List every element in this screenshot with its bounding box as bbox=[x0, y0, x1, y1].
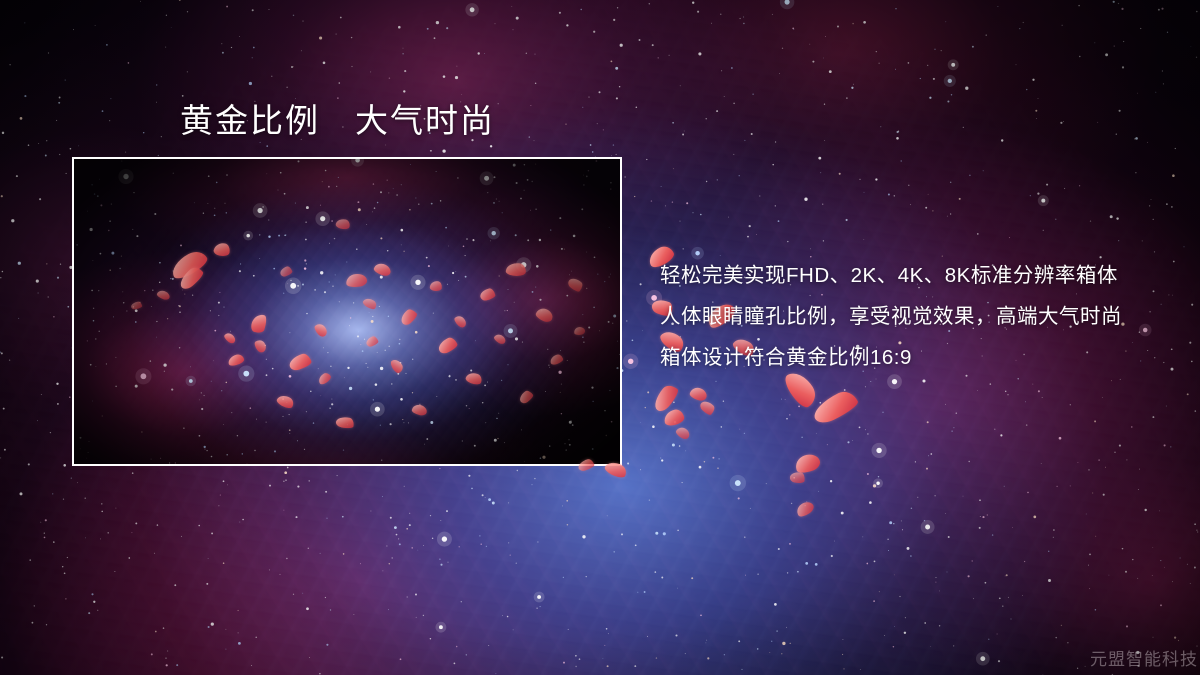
petal bbox=[794, 499, 816, 519]
body-line-2: 人体眼睛瞳孔比例，享受视觉效果，高端大气时尚 bbox=[660, 296, 1180, 337]
petal bbox=[650, 382, 681, 414]
presentation-slide: 黄金比例 大气时尚 轻松完美实现FHD、2K、4K、8K标准分辨率箱体 人体眼睛… bbox=[0, 0, 1200, 675]
petal bbox=[698, 398, 716, 416]
slide-title: 黄金比例 大气时尚 bbox=[180, 101, 495, 141]
body-line-3: 箱体设计符合黄金比例16:9 bbox=[660, 337, 1180, 378]
watermark: 元盟智能科技 bbox=[1090, 649, 1198, 671]
petal bbox=[793, 451, 822, 476]
petal bbox=[810, 387, 861, 427]
petal bbox=[789, 471, 806, 484]
photo-frame[interactable] bbox=[72, 157, 622, 466]
slide-body-text: 轻松完美实现FHD、2K、4K、8K标准分辨率箱体 人体眼睛瞳孔比例，享受视觉效… bbox=[660, 255, 1180, 378]
photo-vignette bbox=[74, 159, 620, 464]
petal bbox=[689, 386, 709, 402]
petal bbox=[674, 425, 691, 441]
body-line-1: 轻松完美实现FHD、2K、4K、8K标准分辨率箱体 bbox=[660, 255, 1180, 296]
petal bbox=[663, 408, 686, 427]
